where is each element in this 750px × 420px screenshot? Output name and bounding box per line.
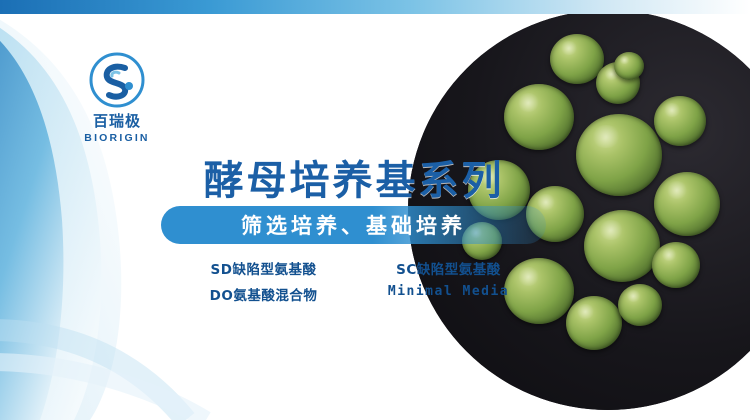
- product-item: DO氨基酸混合物: [176, 284, 351, 304]
- brand-name-cn: 百瑞极: [62, 110, 172, 131]
- yeast-cell: [584, 210, 660, 282]
- product-list: SD缺陷型氨基酸 SC缺陷型氨基酸 DO氨基酸混合物 Minimal Media: [176, 258, 536, 304]
- headline-title: 酵母培养基系列: [168, 148, 540, 206]
- product-item: SD缺陷型氨基酸: [176, 258, 351, 278]
- yeast-cell: [576, 114, 662, 196]
- yeast-cell: [618, 284, 662, 326]
- promo-banner: 百瑞极 BIORIGIN 酵母培养基系列 筛选培养、基础培养 SD缺陷型氨基酸 …: [0, 0, 750, 420]
- brand-name-en: BIORIGIN: [62, 132, 172, 144]
- yeast-cell: [614, 52, 644, 80]
- yeast-cell: [652, 242, 700, 288]
- yeast-cell: [654, 172, 720, 236]
- product-item: Minimal Media: [361, 284, 536, 304]
- biorigin-s-logo-icon: [89, 52, 145, 108]
- yeast-cell: [566, 296, 622, 350]
- yeast-cell: [504, 84, 574, 150]
- yeast-cell: [654, 96, 706, 146]
- subtitle-text: 筛选培养、基础培养: [241, 210, 466, 240]
- top-accent-bar: [0, 0, 750, 14]
- product-item: SC缺陷型氨基酸: [361, 258, 536, 278]
- brand-logo: 百瑞极 BIORIGIN: [62, 52, 172, 144]
- subtitle-bar: 筛选培养、基础培养: [161, 206, 546, 244]
